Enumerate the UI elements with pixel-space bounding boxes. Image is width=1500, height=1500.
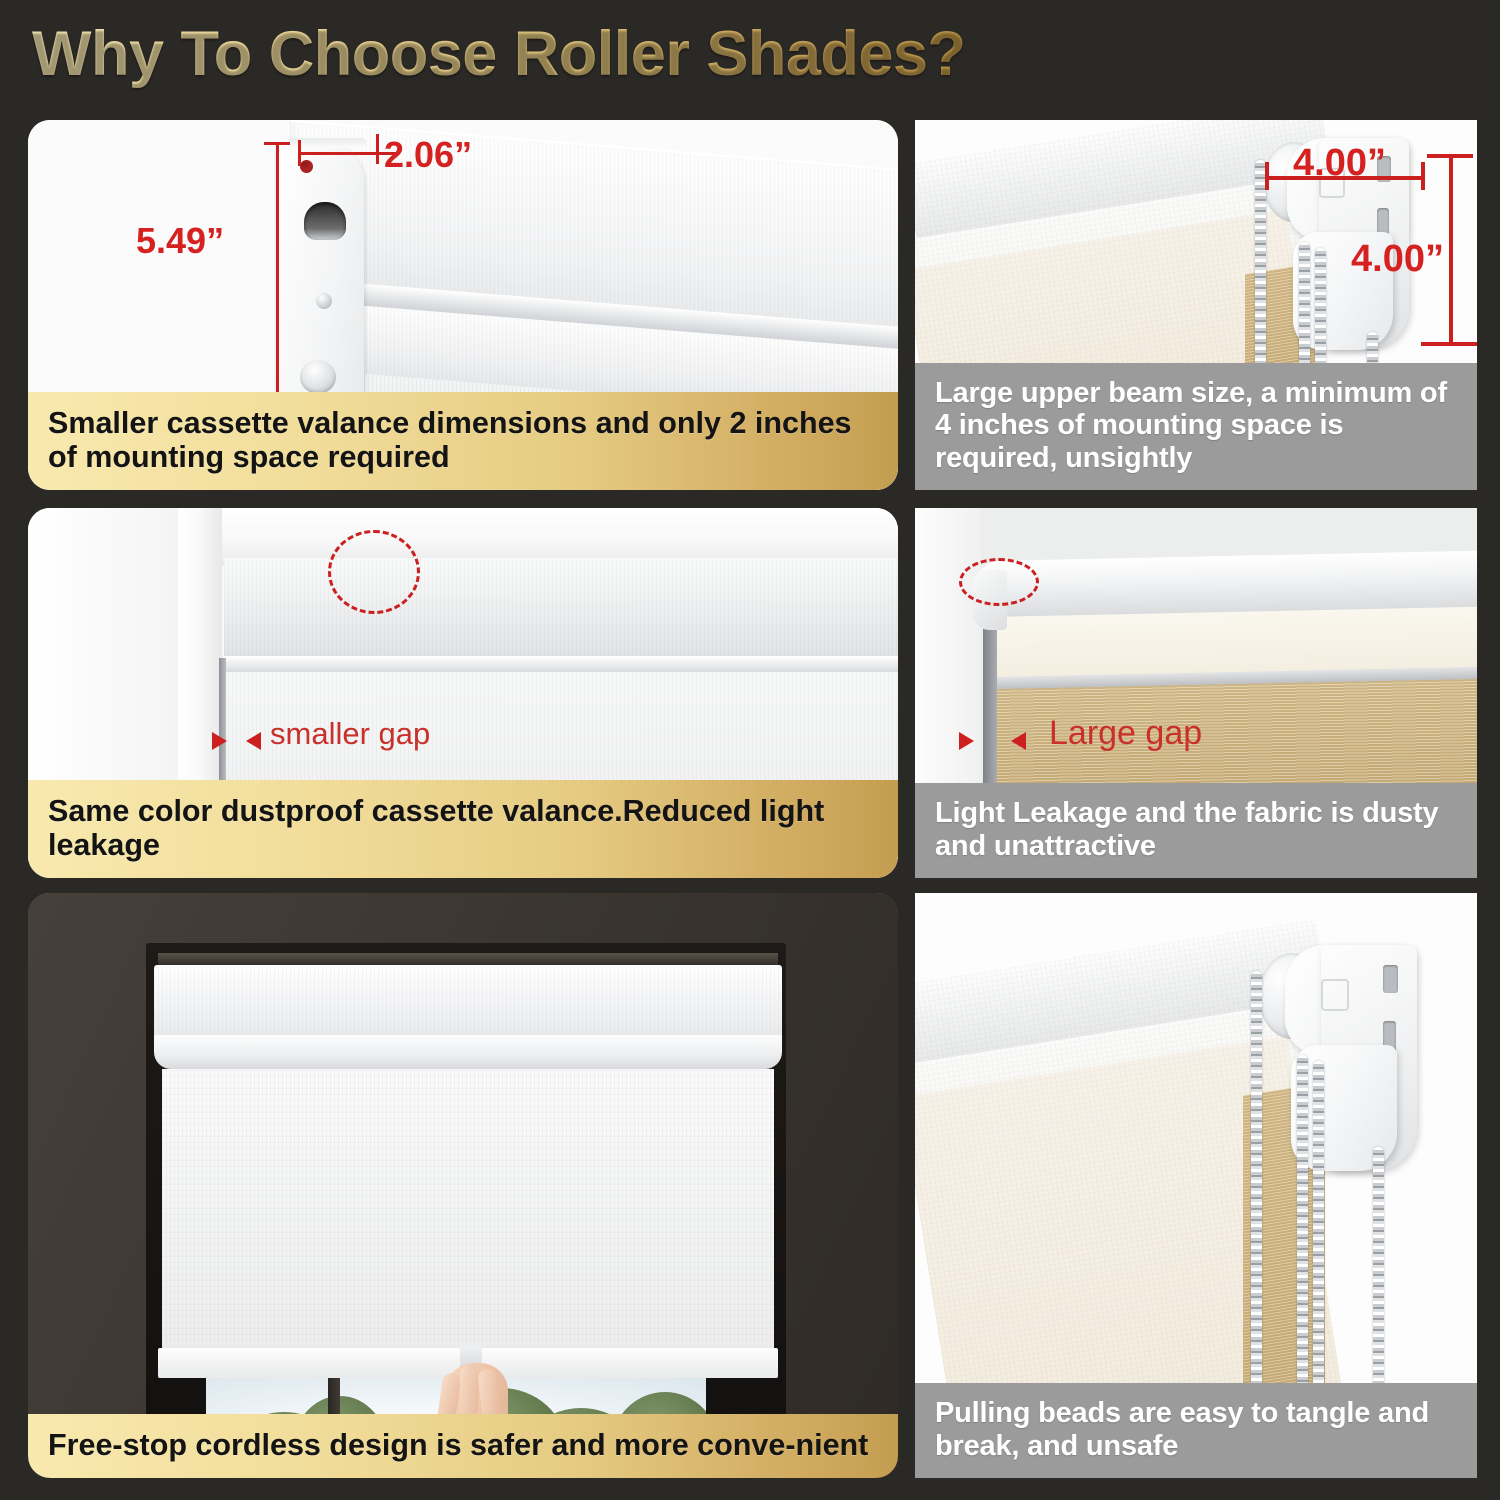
gap-edge <box>219 658 226 798</box>
roller-tube <box>973 551 1477 618</box>
highlight-ellipse-icon <box>328 530 420 614</box>
panel-large-beam: 4.00” 4.00” Large upper beam size, a min… <box>915 120 1477 490</box>
valance-lip <box>224 656 898 672</box>
gap-label: Large gap <box>1049 714 1202 753</box>
bracket-slot <box>1383 965 1398 993</box>
highlight-ellipse-icon <box>959 558 1039 606</box>
panel-5-photo <box>28 893 898 1478</box>
dimension-label-height: 5.49” <box>136 220 224 262</box>
panel-4-caption: Light Leakage and the fabric is dusty an… <box>915 783 1477 878</box>
screw-icon <box>316 293 332 309</box>
panel-2-caption: Large upper beam size, a minimum of 4 in… <box>915 363 1477 490</box>
gap-arrow-right-icon <box>959 732 974 750</box>
bead-chain <box>1313 1061 1324 1421</box>
cassette-valance <box>224 558 898 656</box>
panel-6-caption: Pulling beads are easy to tangle and bre… <box>915 1383 1477 1478</box>
gap-label: smaller gap <box>270 716 430 752</box>
panel-5-caption: Free-stop cordless design is safer and m… <box>28 1414 898 1478</box>
bead-chain <box>1373 1147 1384 1421</box>
gap-arrow-right-icon <box>212 732 227 750</box>
panel-1-caption: Smaller cassette valance dimensions and … <box>28 392 898 490</box>
panel-smaller-cassette: 2.06” 5.49” Smaller cassette valance dim… <box>28 120 898 490</box>
bead-chain <box>1297 1055 1308 1421</box>
cassette-valance <box>154 965 782 1037</box>
bracket-emboss <box>1321 979 1349 1011</box>
dimension-label-width: 4.00” <box>1293 142 1386 185</box>
bead-chain <box>1251 971 1262 1421</box>
screw-icon <box>300 360 336 394</box>
panel-grid: 2.06” 5.49” Smaller cassette valance dim… <box>0 0 1500 1500</box>
dimension-label-depth: 2.06” <box>384 134 472 176</box>
gap-arrow-left-icon <box>246 732 261 750</box>
gap-arrow-left-icon <box>1011 732 1026 750</box>
bracket-slot <box>304 202 346 240</box>
infographic-root: Why To Choose Roller Shades? 2.06” <box>0 0 1500 1500</box>
panel-pulling-beads: Pulling beads are easy to tangle and bre… <box>915 893 1477 1478</box>
panel-3-caption: Same color dustproof cassette valance.Re… <box>28 780 898 878</box>
dimension-label-height: 4.00” <box>1351 238 1444 281</box>
shade-fabric <box>162 1069 774 1359</box>
panel-smaller-gap: smaller gap Same color dustproof cassett… <box>28 508 898 878</box>
panel-cordless-design: Free-stop cordless design is safer and m… <box>28 893 898 1478</box>
panel-large-gap: Large gap Light Leakage and the fabric i… <box>915 508 1477 878</box>
rivet-icon <box>300 160 313 173</box>
valance-lip <box>154 1035 782 1069</box>
